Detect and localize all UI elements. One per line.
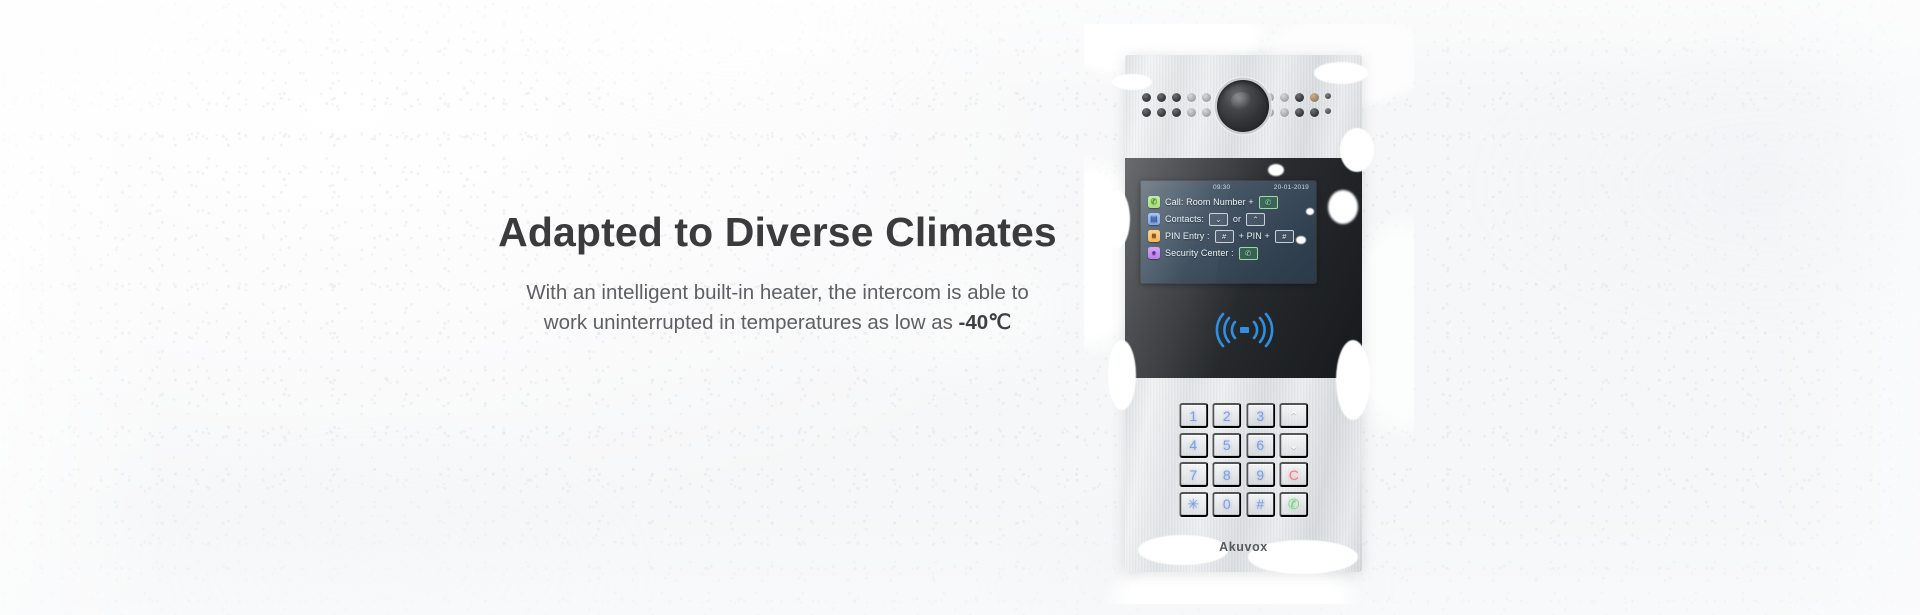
hole-row: [1142, 93, 1211, 102]
subcopy-line-2: work uninterrupted in temperatures as lo…: [544, 311, 959, 334]
lock-orange-icon: ■: [1148, 230, 1160, 242]
hole: [1325, 108, 1331, 114]
key-2[interactable]: 2: [1212, 403, 1241, 428]
hole: [1157, 93, 1166, 102]
lcd-row-label: Call: Room Number +: [1165, 197, 1254, 207]
key-0[interactable]: 0: [1212, 492, 1241, 517]
key-hash-icon: #: [1275, 230, 1294, 243]
key-up-icon: ⌃: [1246, 213, 1265, 226]
snow-hero-banner: Adapted to Diverse Climates With an inte…: [0, 0, 1920, 615]
key-8[interactable]: 8: [1212, 462, 1241, 487]
contacts-blue-icon: ▤: [1148, 213, 1160, 225]
key-down-icon: ⌄: [1209, 213, 1228, 226]
hole: [1202, 108, 1211, 117]
hole: [1142, 93, 1151, 102]
security-purple-icon: ●: [1148, 247, 1160, 259]
camera-lens-icon: [1217, 80, 1269, 132]
key-dial-icon: ✆: [1239, 247, 1258, 260]
hole: [1310, 108, 1319, 117]
hole: [1295, 93, 1304, 102]
glass-panel: 09:30 20-01-2019 ✆ Call: Room Number + ✆…: [1125, 158, 1362, 378]
temperature-value: -40℃: [959, 311, 1012, 334]
hole: [1172, 108, 1181, 117]
page-title: Adapted to Diverse Climates: [365, 210, 1190, 256]
keypad-panel: 1 2 3 ⌃ 4 5 6 ⌄ 7 8 9 C ✳ 0 # ✆: [1125, 378, 1362, 572]
lcd-clock: 09:30: [1213, 184, 1230, 191]
hole-row: [1142, 108, 1211, 117]
intercom-device: 09:30 20-01-2019 ✆ Call: Room Number + ✆…: [1125, 55, 1362, 572]
lcd-row-label: Security Center :: [1165, 248, 1234, 258]
key-hash-icon: #: [1215, 230, 1234, 243]
hero-subcopy: With an intelligent built-in heater, the…: [365, 278, 1190, 338]
key-clear[interactable]: C: [1279, 462, 1308, 487]
lcd-status-bar: 09:30 20-01-2019: [1141, 181, 1316, 194]
hole: [1310, 93, 1319, 102]
lcd-row-label: Contacts:: [1165, 214, 1204, 224]
lcd-row-security-center[interactable]: ● Security Center : ✆: [1148, 247, 1316, 260]
lcd-row-midtext: + PIN +: [1239, 231, 1270, 241]
lcd-screen: 09:30 20-01-2019 ✆ Call: Room Number + ✆…: [1141, 181, 1316, 283]
key-7[interactable]: 7: [1179, 462, 1208, 487]
lcd-row-separator: or: [1233, 214, 1241, 224]
lcd-row-label: PIN Entry :: [1165, 231, 1210, 241]
key-down-icon[interactable]: ⌄: [1279, 433, 1308, 458]
lcd-row-call[interactable]: ✆ Call: Room Number + ✆: [1148, 196, 1316, 209]
speaker-holes-right: [1265, 93, 1331, 117]
hole: [1202, 93, 1211, 102]
hole: [1187, 93, 1196, 102]
hole: [1280, 108, 1289, 117]
key-dial-icon[interactable]: ✆: [1279, 492, 1308, 517]
key-hash[interactable]: #: [1246, 492, 1275, 517]
key-star[interactable]: ✳: [1179, 492, 1208, 517]
lcd-row-contacts[interactable]: ▤ Contacts: ⌄ or ⌃: [1148, 213, 1316, 226]
key-3[interactable]: 3: [1246, 403, 1275, 428]
lcd-row-pin-entry[interactable]: ■ PIN Entry : # + PIN + #: [1148, 230, 1316, 243]
key-dial-icon: ✆: [1259, 196, 1278, 209]
hole-row: [1265, 93, 1331, 102]
lcd-date: 20-01-2019: [1274, 184, 1309, 191]
hole: [1280, 93, 1289, 102]
hole: [1325, 93, 1331, 99]
phone-green-icon: ✆: [1148, 196, 1160, 208]
keypad[interactable]: 1 2 3 ⌃ 4 5 6 ⌄ 7 8 9 C ✳ 0 # ✆: [1179, 403, 1309, 517]
camera-panel: [1125, 55, 1362, 158]
brand-logo: Akuvox: [1125, 540, 1362, 554]
key-6[interactable]: 6: [1246, 433, 1275, 458]
hole: [1157, 108, 1166, 117]
rfid-card-reader-icon[interactable]: [1213, 310, 1275, 350]
hero-copy-block: Adapted to Diverse Climates With an inte…: [365, 210, 1190, 338]
hole: [1295, 108, 1304, 117]
speaker-holes-left: [1142, 93, 1211, 117]
subcopy-line-1: With an intelligent built-in heater, the…: [526, 281, 1029, 304]
hole: [1142, 108, 1151, 117]
lcd-menu-list: ✆ Call: Room Number + ✆ ▤ Contacts: ⌄ or…: [1141, 194, 1316, 260]
intercom-device-photo: 09:30 20-01-2019 ✆ Call: Room Number + ✆…: [1118, 40, 1378, 585]
hole: [1187, 108, 1196, 117]
key-up-icon[interactable]: ⌃: [1279, 403, 1308, 428]
hole: [1172, 93, 1181, 102]
key-4[interactable]: 4: [1179, 433, 1208, 458]
hole-row: [1265, 108, 1331, 117]
key-1[interactable]: 1: [1179, 403, 1208, 428]
key-5[interactable]: 5: [1212, 433, 1241, 458]
key-9[interactable]: 9: [1246, 462, 1275, 487]
